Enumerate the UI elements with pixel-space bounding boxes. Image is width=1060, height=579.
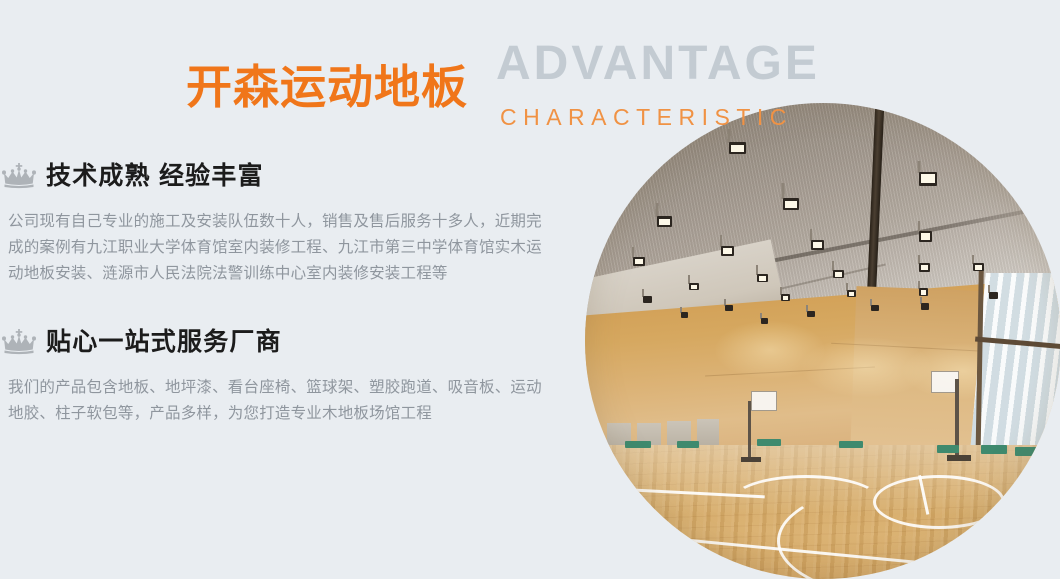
- section-2-body: 我们的产品包含地板、地坪漆、看台座椅、篮球架、塑胶跑道、吸音板、运动地胶、柱子软…: [0, 375, 548, 427]
- gymnasium-photo: [585, 103, 1060, 579]
- bench-seat: [625, 441, 651, 448]
- court-center-circle: [873, 475, 1005, 529]
- section-1-heading-row: 技术成熟 经验丰富: [0, 155, 570, 197]
- banner-header: ADVANTAGE CHARACTERISTIC 开森运动地板: [0, 26, 860, 118]
- gymnasium-photo-scene: [585, 103, 1060, 579]
- advantage-section-1: 技术成熟 经验丰富 公司现有自己专业的施工及安装队伍数十人，销售及售后服务十多人…: [0, 155, 570, 287]
- page-title: 开森运动地板: [186, 62, 468, 112]
- basketball-hoop-left: [737, 391, 777, 461]
- crown-icon: [2, 163, 36, 189]
- advantage-content: 技术成熟 经验丰富 公司现有自己专业的施工及安装队伍数十人，销售及售后服务十多人…: [0, 155, 570, 433]
- bench-seat: [981, 445, 1007, 454]
- bench-seat: [677, 441, 699, 448]
- advantage-section-2: 贴心一站式服务厂商 我们的产品包含地板、地坪漆、看台座椅、篮球架、塑胶跑道、吸音…: [0, 321, 570, 427]
- advantage-banner: ADVANTAGE CHARACTERISTIC 开森运动地板: [0, 0, 1060, 540]
- wall-opening: [697, 419, 719, 447]
- section-1-body: 公司现有自己专业的施工及安装队伍数十人，销售及售后服务十多人，近期完成的案例有九…: [0, 209, 548, 287]
- section-1-heading: 技术成熟 经验丰富: [46, 161, 264, 191]
- title-english-main: ADVANTAGE: [496, 38, 820, 90]
- bench-seat: [757, 439, 781, 446]
- bench-seat: [937, 445, 959, 453]
- section-2-heading: 贴心一站式服务厂商: [46, 327, 282, 357]
- title-english-sub: CHARACTERISTIC: [500, 104, 793, 130]
- crown-icon: [2, 329, 36, 355]
- bench-seat: [1015, 447, 1039, 456]
- section-2-heading-row: 贴心一站式服务厂商: [0, 321, 570, 363]
- bench-seat: [839, 441, 863, 448]
